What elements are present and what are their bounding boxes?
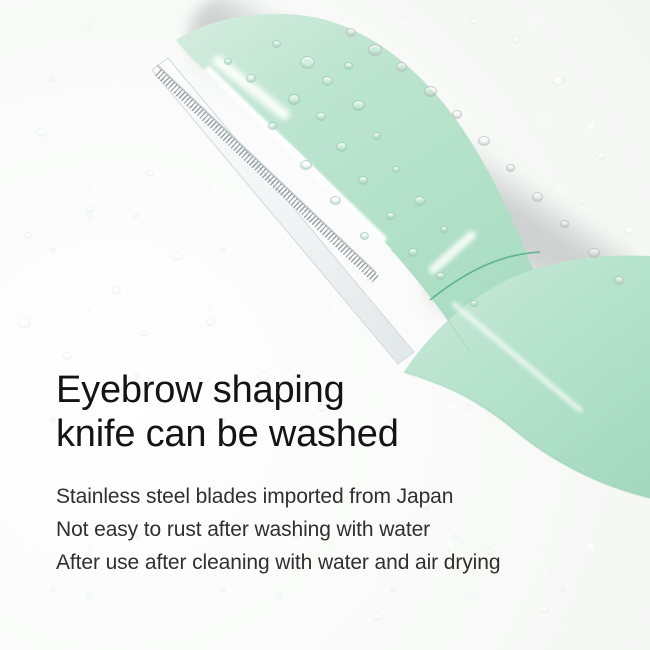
headline: Eyebrow shaping knife can be washed [56,368,616,456]
feature-item: Stainless steel blades imported from Jap… [56,480,616,513]
feature-item: After use after cleaning with water and … [56,546,616,579]
feature-item: Not easy to rust after washing with wate… [56,513,616,546]
marketing-copy: Eyebrow shaping knife can be washed Stai… [56,368,616,579]
product-banner: Eyebrow shaping knife can be washed Stai… [0,0,650,650]
feature-list: Stainless steel blades imported from Jap… [56,480,616,579]
